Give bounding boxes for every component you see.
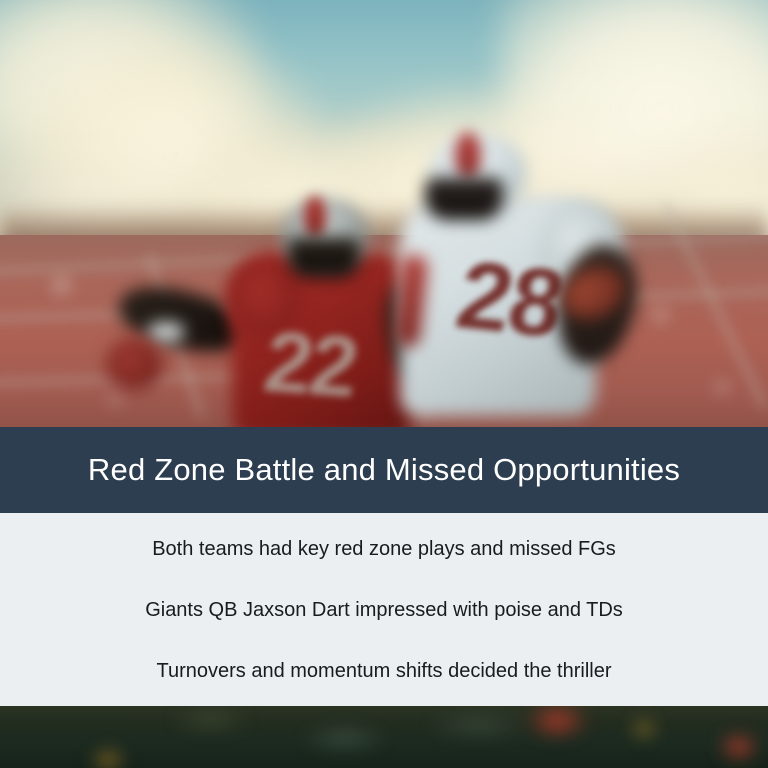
red-player-jersey-number: 22 [234,315,386,414]
bullet-line: Both teams had key red zone plays and mi… [152,528,616,570]
football-field [0,706,768,768]
white-player-helmet-stripe [455,132,481,180]
slide-bullet-panel: Both teams had key red zone plays and mi… [0,513,768,706]
bullet-line: Giants QB Jaxson Dart impressed with poi… [145,589,623,631]
presentation-slide: 22 28 Red Zone Battle and Missed Opportu… [0,0,768,768]
red-player-wristband [148,322,184,342]
red-player-glove [106,338,162,390]
slide-title: Red Zone Battle and Missed Opportunities [88,452,680,488]
white-player-facemask [425,178,503,220]
red-player-helmet-stripe [304,196,326,238]
slide-title-band: Red Zone Battle and Missed Opportunities [0,427,768,513]
red-player-facemask [288,238,360,278]
bullet-line: Turnovers and momentum shifts decided th… [156,650,611,692]
